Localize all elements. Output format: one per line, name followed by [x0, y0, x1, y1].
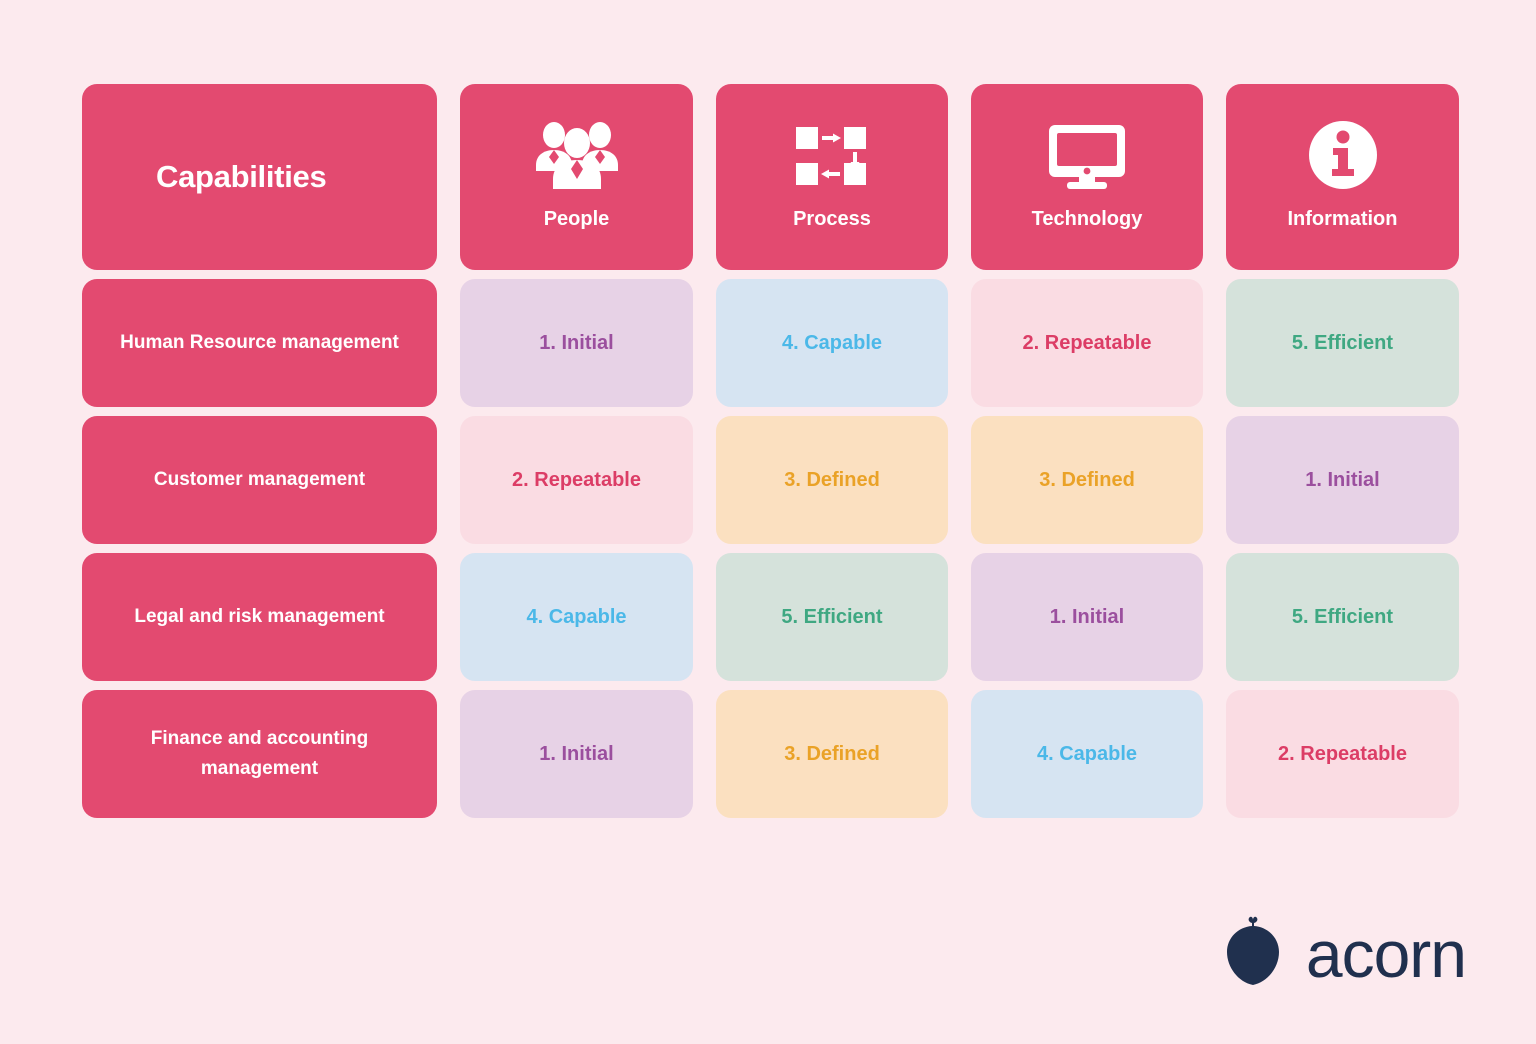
page-title: Capabilities [156, 159, 326, 195]
row-header-label: Finance and accounting management [100, 724, 419, 785]
people-group-icon [529, 118, 625, 192]
maturity-level-label: 2. Repeatable [512, 469, 641, 492]
row-header-label: Customer management [154, 465, 365, 495]
maturity-level-label: 4. Capable [1037, 743, 1137, 766]
maturity-cell[interactable]: 2. Repeatable [460, 416, 693, 544]
column-header-information[interactable]: Information [1226, 84, 1459, 270]
maturity-cell[interactable]: 3. Defined [716, 416, 948, 544]
maturity-level-label: 3. Defined [784, 469, 880, 492]
maturity-level-label: 4. Capable [782, 332, 882, 355]
row-header[interactable]: Human Resource management [82, 279, 437, 407]
maturity-level-label: 1. Initial [1050, 606, 1124, 629]
column-header-people[interactable]: People [460, 84, 693, 270]
column-header-label: Information [1288, 208, 1398, 231]
column-header-label: Process [793, 208, 871, 231]
maturity-cell[interactable]: 5. Efficient [1226, 279, 1459, 407]
maturity-cell[interactable]: 3. Defined [716, 690, 948, 818]
maturity-cell[interactable]: 4. Capable [716, 279, 948, 407]
maturity-level-label: 2. Repeatable [1023, 332, 1152, 355]
maturity-cell[interactable]: 3. Defined [971, 416, 1203, 544]
column-header-technology[interactable]: Technology [971, 84, 1203, 270]
row-header[interactable]: Legal and risk management [82, 553, 437, 681]
row-header-label: Legal and risk management [134, 602, 384, 632]
maturity-level-label: 1. Initial [1305, 469, 1379, 492]
maturity-level-label: 5. Efficient [781, 606, 882, 629]
maturity-cell[interactable]: 2. Repeatable [971, 279, 1203, 407]
maturity-cell[interactable]: 4. Capable [971, 690, 1203, 818]
maturity-level-label: 1. Initial [539, 743, 613, 766]
row-header[interactable]: Customer management [82, 416, 437, 544]
column-header-process[interactable]: Process [716, 84, 948, 270]
info-circle-icon [1306, 118, 1380, 192]
brand-logo: acorn [1222, 915, 1466, 992]
acorn-icon [1222, 915, 1284, 992]
maturity-cell[interactable]: 1. Initial [460, 690, 693, 818]
maturity-cell[interactable]: 1. Initial [1226, 416, 1459, 544]
capability-maturity-matrix: Capabilities People Process Tech [82, 84, 1458, 818]
maturity-cell[interactable]: 1. Initial [971, 553, 1203, 681]
maturity-level-label: 2. Repeatable [1278, 743, 1407, 766]
maturity-cell[interactable]: 5. Efficient [1226, 553, 1459, 681]
monitor-icon [1043, 118, 1131, 192]
maturity-level-label: 5. Efficient [1292, 606, 1393, 629]
maturity-level-label: 4. Capable [526, 606, 626, 629]
maturity-level-label: 3. Defined [784, 743, 880, 766]
maturity-cell[interactable]: 5. Efficient [716, 553, 948, 681]
maturity-cell[interactable]: 2. Repeatable [1226, 690, 1459, 818]
brand-wordmark: acorn [1306, 921, 1466, 987]
column-header-label: Technology [1032, 208, 1143, 231]
matrix-title-card: Capabilities [82, 84, 437, 270]
process-flow-icon [790, 118, 874, 192]
maturity-cell[interactable]: 1. Initial [460, 279, 693, 407]
maturity-cell[interactable]: 4. Capable [460, 553, 693, 681]
column-header-label: People [544, 208, 610, 231]
maturity-level-label: 3. Defined [1039, 469, 1135, 492]
row-header-label: Human Resource management [120, 328, 399, 358]
row-header[interactable]: Finance and accounting management [82, 690, 437, 818]
maturity-level-label: 5. Efficient [1292, 332, 1393, 355]
maturity-level-label: 1. Initial [539, 332, 613, 355]
